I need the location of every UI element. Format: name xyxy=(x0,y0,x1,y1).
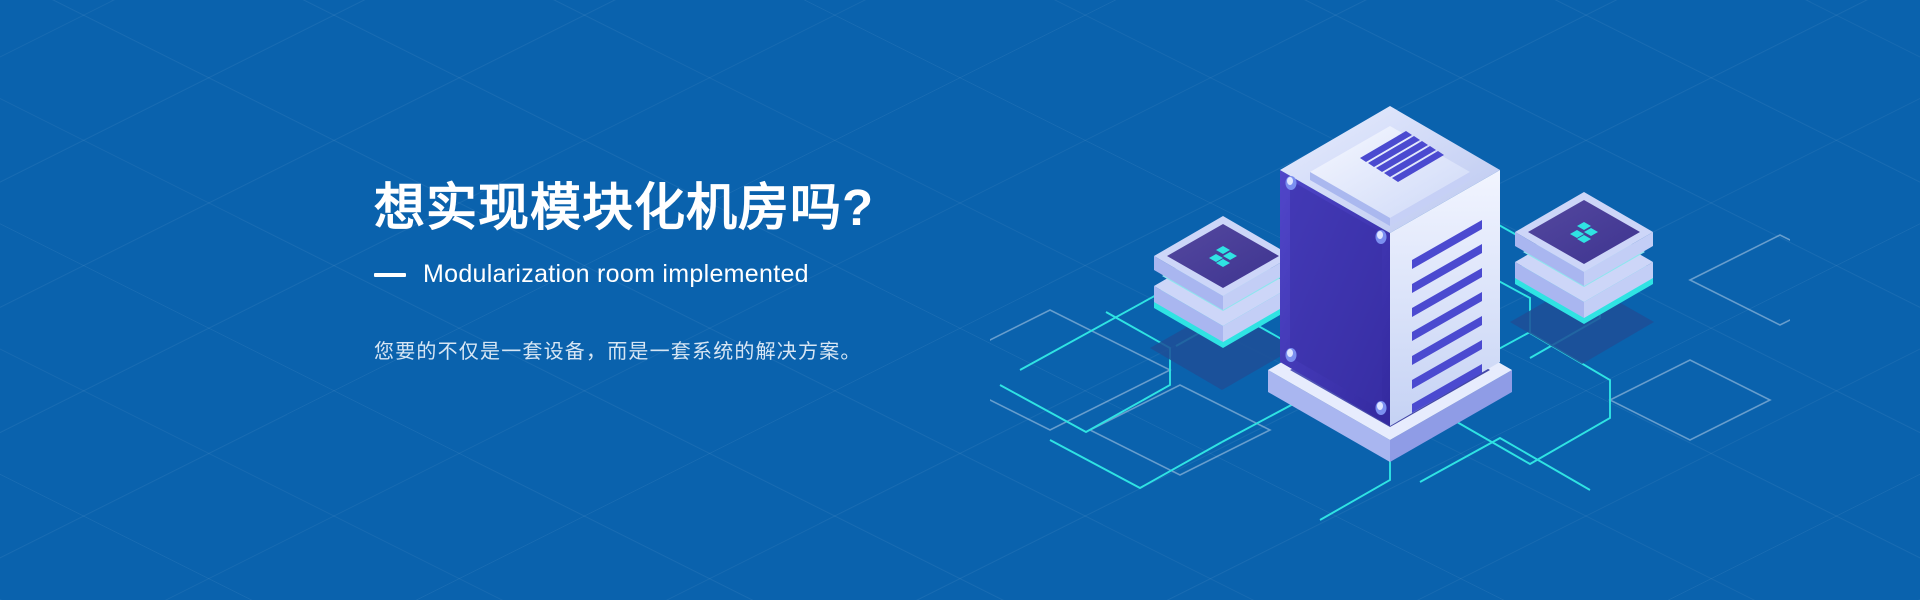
server-tower xyxy=(1280,106,1500,426)
hero-text-block: 想实现模块化机房吗? Modularization room implement… xyxy=(374,178,1074,364)
page-title: 想实现模块化机房吗? xyxy=(374,178,1074,238)
page-tagline: 您要的不仅是一套设备，而是一套系统的解决方案。 xyxy=(374,335,1074,364)
hero-banner: 想实现模块化机房吗? Modularization room implement… xyxy=(0,0,1920,600)
chip-left xyxy=(1154,216,1292,348)
dash-accent-icon xyxy=(374,273,406,277)
chip-right xyxy=(1515,192,1653,324)
subtitle-row: Modularization room implemented xyxy=(374,260,1074,289)
isometric-server-illustration xyxy=(990,70,1790,530)
page-subtitle: Modularization room implemented xyxy=(423,260,809,289)
